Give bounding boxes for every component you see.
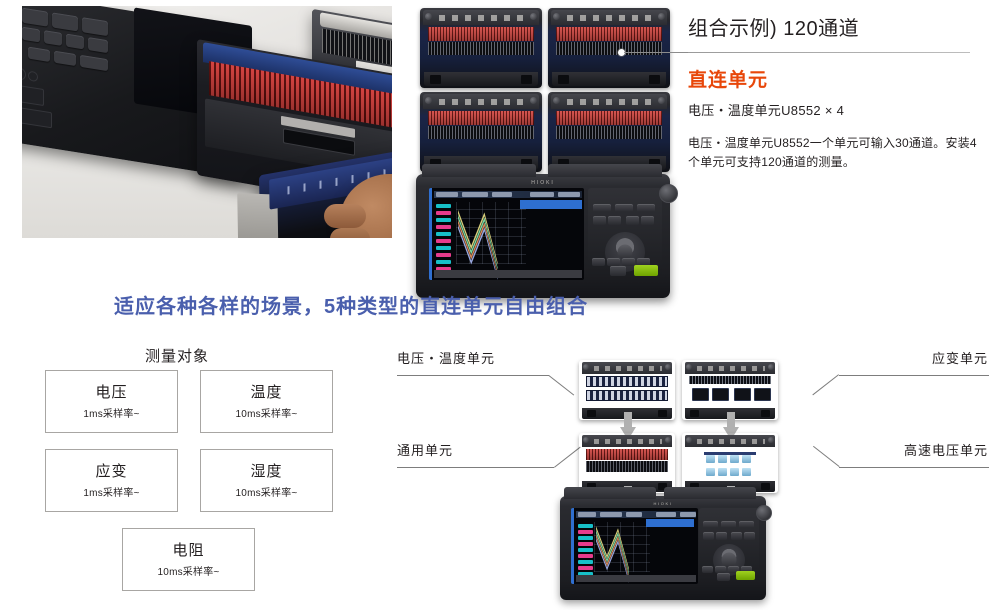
diagram-module-universal <box>579 433 675 493</box>
measure-box-temperature: 温度 10ms采样率~ <box>200 370 333 433</box>
measure-box-rate: 10ms采样率~ <box>201 405 332 420</box>
diagram-module-voltage-temp <box>579 360 675 420</box>
measure-box-strain: 应变 1ms采样率~ <box>45 449 178 512</box>
measure-box-name: 电阻 <box>123 539 254 560</box>
unit-combination-diagram: 电压・温度单元 应变单元 通用单元 高速电压单元 <box>392 340 992 608</box>
measure-box-name: 应变 <box>46 460 177 481</box>
measure-box-name: 电压 <box>46 381 177 402</box>
measure-box-resistance: 电阻 10ms采样率~ <box>122 528 255 591</box>
leader-line-bl <box>397 467 554 468</box>
measure-box-rate: 10ms采样率~ <box>123 563 254 578</box>
start-button[interactable] <box>736 571 755 580</box>
measure-box-voltage: 电压 1ms采样率~ <box>45 370 178 433</box>
measure-box-name: 湿度 <box>201 460 332 481</box>
diagram-module-high-speed-voltage <box>682 433 778 493</box>
product-photo <box>22 6 392 238</box>
rotary-knob[interactable] <box>659 184 678 203</box>
leader-line-br <box>839 467 989 468</box>
callout-leader-line <box>618 48 970 58</box>
start-button[interactable] <box>634 265 658 276</box>
diagram-module-strain <box>682 360 778 420</box>
logger-display <box>429 188 584 280</box>
photo-logger-ports <box>22 64 68 134</box>
diagram-label-universal: 通用单元 <box>397 440 453 459</box>
stack-module-3 <box>420 92 542 172</box>
measure-box-humidity: 湿度 10ms采样率~ <box>200 449 333 512</box>
combo-example-title: 组合示例) 120通道 <box>688 12 859 41</box>
leader-diag-br <box>813 446 840 467</box>
diagram-logger-base: HIOKI <box>560 496 766 600</box>
leader-line-tl <box>397 375 549 376</box>
hioki-brand-mark: HIOKI <box>560 501 766 506</box>
section-heading: 适应各种各样的场景，5种类型的直连单元自由组合 <box>114 290 588 319</box>
leader-diag-tr <box>812 374 839 395</box>
stack-module-4 <box>548 92 670 172</box>
direct-unit-heading: 直连单元 <box>688 65 768 92</box>
rotary-knob[interactable] <box>756 505 772 521</box>
stack-module-1 <box>420 8 542 88</box>
leader-diag-bl <box>554 447 581 468</box>
stack-logger-base: HIOKI <box>416 174 670 298</box>
diagram-logger-control-panel <box>699 508 759 584</box>
title-divider <box>688 52 970 53</box>
unit-spec-line: 电压・温度单元U8552 × 4 <box>688 100 844 119</box>
leader-diag-tl <box>548 375 574 395</box>
stacked-logger-illustration: HIOKI <box>416 8 672 236</box>
measure-box-rate: 1ms采样率~ <box>46 405 177 420</box>
unit-description: 电压・温度单元U8552一个单元可输入30通道。安装4个单元可支持120通道的测… <box>688 134 980 172</box>
logger-control-panel <box>588 188 662 280</box>
diagram-label-high-speed-voltage: 高速电压单元 <box>904 440 988 459</box>
hioki-brand-mark: HIOKI <box>416 180 670 186</box>
measure-target-label: 测量对象 <box>145 345 209 366</box>
measure-box-rate: 10ms采样率~ <box>201 484 332 499</box>
measure-box-name: 温度 <box>201 381 332 402</box>
leader-line-tr <box>839 375 989 376</box>
diagram-logger-display <box>571 508 698 584</box>
diagram-label-voltage-temp: 电压・温度单元 <box>397 348 495 367</box>
diagram-label-strain: 应变单元 <box>932 348 988 367</box>
measure-box-rate: 1ms采样率~ <box>46 484 177 499</box>
